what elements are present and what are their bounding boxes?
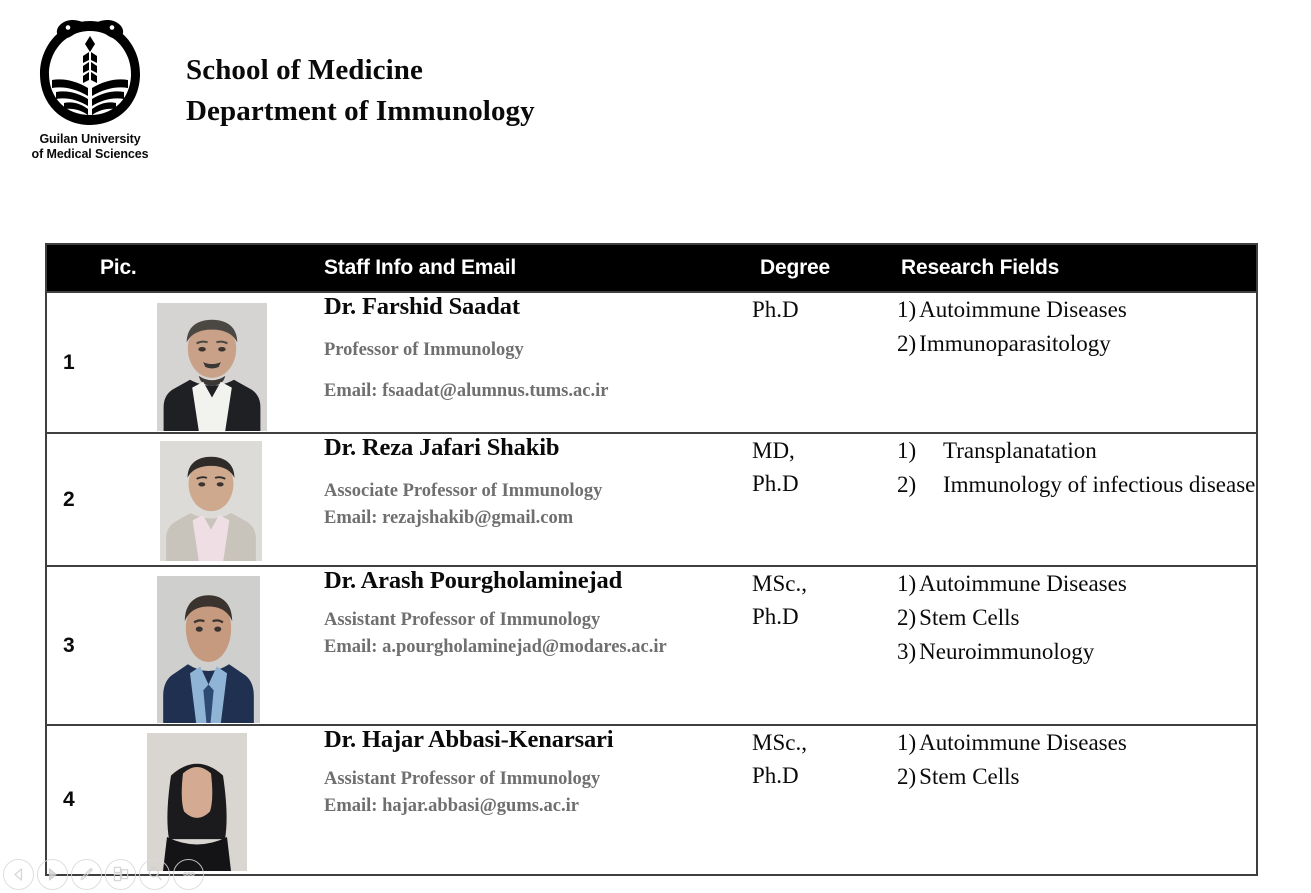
research-field-item: 2)Stem Cells bbox=[897, 601, 1256, 635]
table-row: 1 Dr. Farshid SaadatProfessor of Immunol… bbox=[46, 292, 1257, 433]
table-row: 4 Dr. Hajar Abbasi-KenarsariAssistant Pr… bbox=[46, 725, 1257, 875]
staff-role: Assistant Professor of Immunology bbox=[324, 609, 752, 631]
research-field-label: Autoimmune Diseases bbox=[919, 571, 1127, 596]
research-fields-list: 1)Autoimmune Diseases2)Stem Cells3)Neuro… bbox=[897, 567, 1256, 668]
row-number: 4 bbox=[63, 788, 75, 812]
degree-value: MSc., Ph.D bbox=[752, 726, 897, 792]
staff-email[interactable]: Email: rezajshakib@gmail.com bbox=[324, 507, 752, 529]
research-field-number: 3) bbox=[897, 639, 916, 664]
cell-degree: MD, Ph.D bbox=[752, 433, 897, 566]
research-field-item: 1)Transplanatation bbox=[897, 434, 1256, 468]
research-field-label: Neuroimmunology bbox=[919, 639, 1094, 664]
row-number: 1 bbox=[63, 351, 75, 375]
table-row: 3 Dr. Arash PourgholaminejadAssistant Pr… bbox=[46, 566, 1257, 725]
table-body: 1 Dr. Farshid SaadatProfessor of Immunol… bbox=[46, 292, 1257, 875]
research-field-item: 2)Stem Cells bbox=[897, 760, 1256, 794]
research-field-item: 2)Immunoparasitology bbox=[897, 327, 1256, 361]
slide-title: School of Medicine Department of Immunol… bbox=[186, 50, 535, 132]
staff-role: Professor of Immunology bbox=[324, 339, 752, 361]
more-options-icon[interactable] bbox=[173, 859, 204, 890]
previous-slide-icon[interactable] bbox=[3, 859, 34, 890]
research-field-label: Autoimmune Diseases bbox=[919, 730, 1127, 755]
cell-picture: 4 bbox=[46, 725, 324, 875]
cell-picture: 2 bbox=[46, 433, 324, 566]
staff-email[interactable]: Email: fsaadat@alumnus.tums.ac.ir bbox=[324, 380, 752, 402]
pen-icon[interactable] bbox=[71, 859, 102, 890]
research-field-label: Stem Cells bbox=[919, 764, 1019, 789]
staff-photo bbox=[147, 733, 247, 871]
research-field-number: 1) bbox=[897, 434, 943, 468]
research-field-number: 2) bbox=[897, 468, 943, 502]
cell-research-fields: 1)Transplanatation2)Immunology of infect… bbox=[897, 433, 1257, 566]
cell-picture: 3 bbox=[46, 566, 324, 725]
next-slide-icon[interactable] bbox=[37, 859, 68, 890]
portrait-illustration bbox=[157, 303, 267, 431]
research-field-label: Stem Cells bbox=[919, 605, 1019, 630]
staff-name: Dr. Arash Pourgholaminejad bbox=[324, 567, 752, 595]
research-field-number: 1) bbox=[897, 571, 916, 596]
university-logo: Guilan University of Medical Sciences bbox=[14, 12, 166, 163]
cell-degree: MSc., Ph.D bbox=[752, 725, 897, 875]
column-header-degree-label: Degree bbox=[752, 256, 830, 279]
magnifier-glyph bbox=[146, 865, 164, 883]
portrait-illustration bbox=[160, 441, 262, 561]
title-line-school: School of Medicine bbox=[186, 50, 535, 91]
cell-staff-info: Dr. Farshid SaadatProfessor of Immunolog… bbox=[324, 292, 752, 433]
research-fields-list: 1)Autoimmune Diseases2)Immunoparasitolog… bbox=[897, 293, 1256, 361]
grid-glyph bbox=[112, 865, 130, 883]
guilan-university-emblem-icon bbox=[30, 12, 150, 130]
pen-glyph bbox=[78, 865, 96, 883]
cell-picture: 1 bbox=[46, 292, 324, 433]
slide-header: Guilan University of Medical Sciences Sc… bbox=[0, 0, 1311, 180]
research-field-item: 1)Autoimmune Diseases bbox=[897, 293, 1256, 327]
research-field-label: Autoimmune Diseases bbox=[919, 297, 1127, 322]
research-field-label: Transplanatation bbox=[943, 434, 1256, 468]
staff-email[interactable]: Email: a.pourgholaminejad@modares.ac.ir bbox=[324, 636, 752, 658]
column-header-fields: Research Fields bbox=[897, 244, 1257, 292]
cell-research-fields: 1)Autoimmune Diseases2)Immunoparasitolog… bbox=[897, 292, 1257, 433]
staff-name: Dr. Hajar Abbasi-Kenarsari bbox=[324, 726, 752, 754]
column-header-fields-label: Research Fields bbox=[897, 256, 1059, 279]
research-field-label: Immunology of infectious disease bbox=[943, 468, 1256, 502]
cell-degree: MSc., Ph.D bbox=[752, 566, 897, 725]
staff-photo bbox=[157, 576, 260, 723]
column-header-pic-label: Pic. bbox=[47, 256, 137, 279]
title-line-department: Department of Immunology bbox=[186, 91, 535, 132]
cell-staff-info: Dr. Reza Jafari ShakibAssociate Professo… bbox=[324, 433, 752, 566]
research-field-number: 2) bbox=[897, 764, 916, 789]
presenter-toolbar bbox=[0, 855, 230, 893]
staff-name: Dr. Reza Jafari Shakib bbox=[324, 434, 752, 462]
research-fields-list: 1)Transplanatation2)Immunology of infect… bbox=[897, 434, 1256, 502]
degree-value: MSc., Ph.D bbox=[752, 567, 897, 633]
staff-role: Associate Professor of Immunology bbox=[324, 480, 752, 502]
column-header-info: Staff Info and Email bbox=[324, 244, 752, 292]
column-header-degree: Degree bbox=[752, 244, 897, 292]
cell-research-fields: 1)Autoimmune Diseases2)Stem Cells bbox=[897, 725, 1257, 875]
research-field-label: Immunoparasitology bbox=[919, 331, 1111, 356]
next-triangle-glyph bbox=[44, 866, 61, 883]
research-field-number: 2) bbox=[897, 331, 916, 356]
table-header-row: Pic. Staff Info and Email Degree Researc… bbox=[46, 244, 1257, 292]
table-header: Pic. Staff Info and Email Degree Researc… bbox=[46, 244, 1257, 292]
staff-name: Dr. Farshid Saadat bbox=[324, 293, 752, 321]
research-field-item: 1)Autoimmune Diseases bbox=[897, 726, 1256, 760]
staff-email[interactable]: Email: hajar.abbasi@gums.ac.ir bbox=[324, 795, 752, 817]
degree-value: MD, Ph.D bbox=[752, 434, 897, 500]
degree-value: Ph.D bbox=[752, 293, 897, 326]
research-field-number: 2) bbox=[897, 605, 916, 630]
research-fields-list: 1)Autoimmune Diseases2)Stem Cells bbox=[897, 726, 1256, 794]
research-field-number: 1) bbox=[897, 297, 916, 322]
university-name-line2: of Medical Sciences bbox=[14, 147, 166, 162]
slide: Guilan University of Medical Sciences Sc… bbox=[0, 0, 1311, 893]
research-field-item: 1)Autoimmune Diseases bbox=[897, 567, 1256, 601]
cell-staff-info: Dr. Hajar Abbasi-KenarsariAssistant Prof… bbox=[324, 725, 752, 875]
zoom-magnifier-icon[interactable] bbox=[139, 859, 170, 890]
table-row: 2 Dr. Reza Jafari ShakibAssociate Profes… bbox=[46, 433, 1257, 566]
staff-photo bbox=[157, 303, 267, 431]
staff-table: Pic. Staff Info and Email Degree Researc… bbox=[45, 243, 1258, 876]
research-field-number: 1) bbox=[897, 730, 916, 755]
row-number: 2 bbox=[63, 488, 75, 512]
column-header-pic: Pic. bbox=[46, 244, 324, 292]
research-field-item: 2)Immunology of infectious disease bbox=[897, 468, 1256, 502]
cell-research-fields: 1)Autoimmune Diseases2)Stem Cells3)Neuro… bbox=[897, 566, 1257, 725]
previous-triangle-glyph bbox=[10, 866, 27, 883]
staff-photo bbox=[160, 441, 262, 561]
portrait-illustration bbox=[147, 733, 247, 871]
university-name-line1: Guilan University bbox=[14, 132, 166, 147]
cell-staff-info: Dr. Arash PourgholaminejadAssistant Prof… bbox=[324, 566, 752, 725]
three-dots-glyph bbox=[180, 865, 198, 883]
staff-role: Assistant Professor of Immunology bbox=[324, 768, 752, 790]
row-number: 3 bbox=[63, 634, 75, 658]
research-field-item: 3)Neuroimmunology bbox=[897, 635, 1256, 669]
column-header-info-label: Staff Info and Email bbox=[324, 256, 516, 279]
cell-degree: Ph.D bbox=[752, 292, 897, 433]
portrait-illustration bbox=[157, 576, 260, 723]
slide-grid-icon[interactable] bbox=[105, 859, 136, 890]
